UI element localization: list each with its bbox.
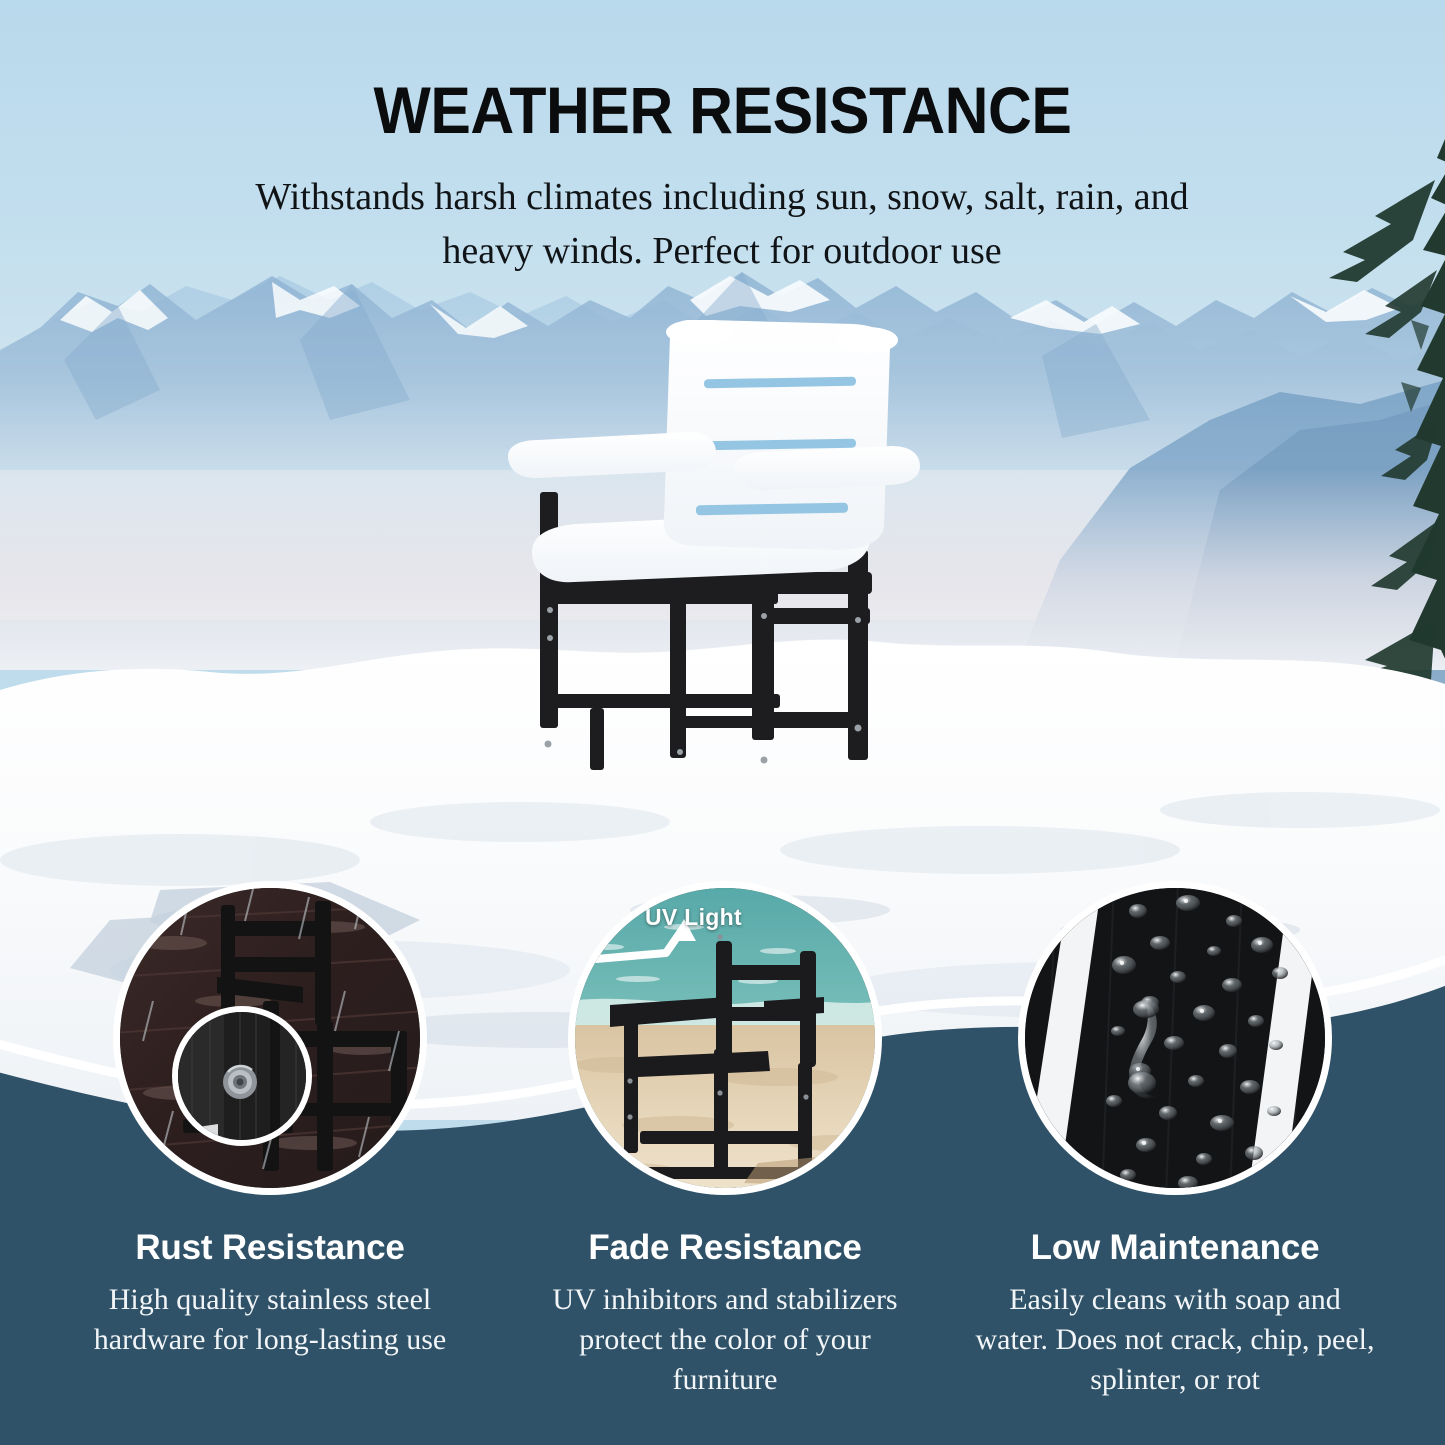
feature-title-low-maintenance: Low Maintenance <box>955 1228 1395 1268</box>
uv-light-label: UV Light <box>645 904 820 931</box>
feature-title-rust-resistance: Rust Resistance <box>50 1228 490 1268</box>
screw-magnifier-inset <box>172 1006 312 1146</box>
page-subtitle: Withstands harsh climates including sun,… <box>222 170 1222 279</box>
feature-image-rust-resistance <box>113 881 427 1195</box>
feature-image-low-maintenance <box>1018 881 1332 1195</box>
feature-body-fade-resistance: UV inhibitors and stabilizers protect th… <box>525 1280 925 1400</box>
weather-resistance-infographic: WEATHER RESISTANCE Withstands harsh clim… <box>0 0 1445 1445</box>
feature-title-fade-resistance: Fade Resistance <box>505 1228 945 1268</box>
page-title: WEATHER RESISTANCE <box>58 72 1387 148</box>
feature-body-rust-resistance: High quality stainless steel hardware fo… <box>70 1280 470 1360</box>
uv-light-text: UV Light <box>645 904 742 930</box>
water-droplets-icon <box>1018 881 1332 1195</box>
snow-covered-chair <box>498 320 928 780</box>
feature-body-low-maintenance: Easily cleans with soap and water. Does … <box>975 1280 1375 1400</box>
feature-image-fade-resistance: UV Light <box>568 881 882 1195</box>
